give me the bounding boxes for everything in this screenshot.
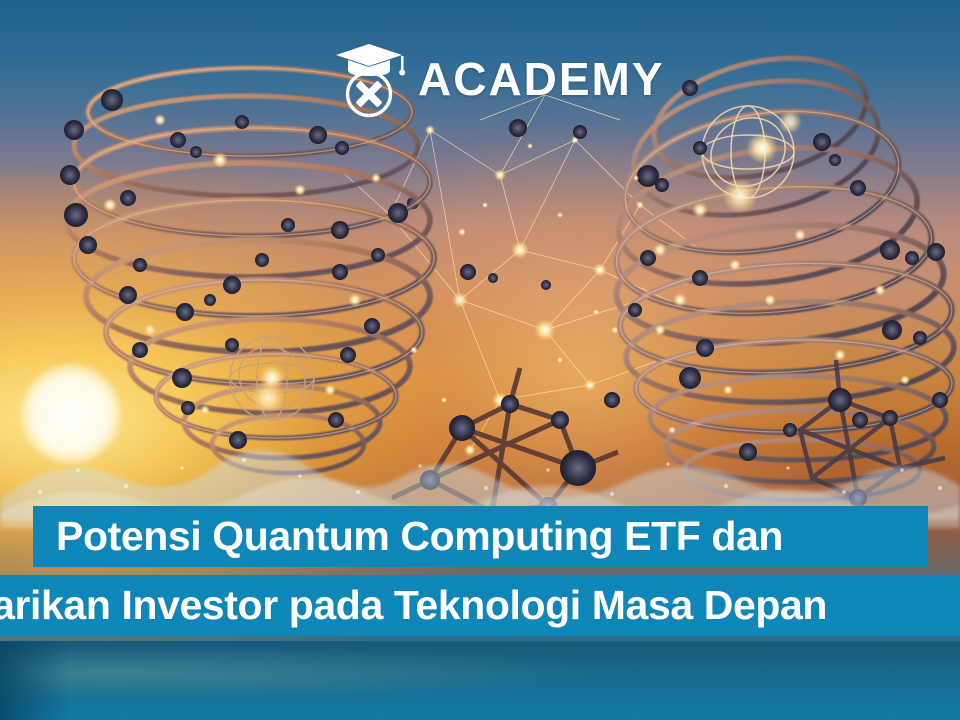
academy-logo[interactable]: ACADEMY (332, 40, 665, 118)
academy-logo-mark (332, 40, 406, 118)
thumbnail-canvas: ACADEMY Potensi Quantum Computing ETF da… (0, 0, 960, 720)
left-coil-structure (66, 68, 434, 473)
crossed-pickaxe-circle-icon (348, 73, 391, 116)
title-line-1: Potensi Quantum Computing ETF dan (33, 506, 928, 567)
bottom-teal-panel (0, 641, 960, 720)
title-line-2: Ketertarikan Investor pada Teknologi Mas… (0, 575, 827, 636)
right-core-glow (746, 132, 778, 164)
graduation-cap-with-crossed-pickaxe-circle-icon (332, 40, 406, 118)
academy-logo-wordmark: ACADEMY (418, 56, 665, 102)
title-line-2-banner: Ketertarikan Investor pada Teknologi Mas… (0, 575, 960, 636)
article-title-block: Potensi Quantum Computing ETF dan Ketert… (0, 506, 960, 636)
